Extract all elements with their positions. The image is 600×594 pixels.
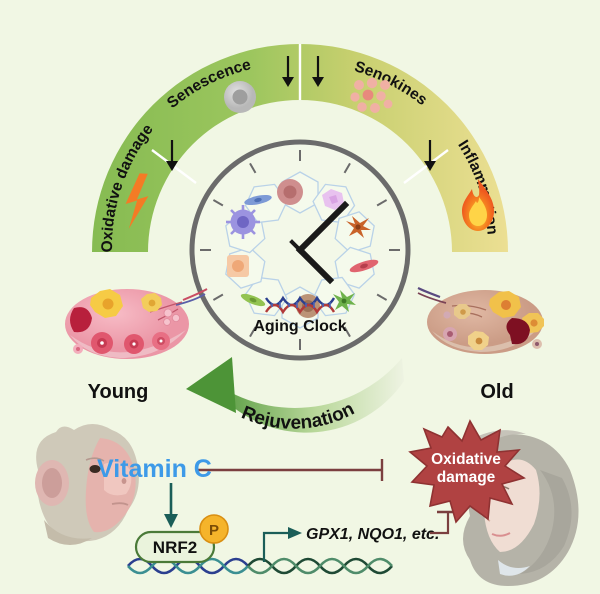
young-label: Young (88, 381, 149, 403)
nrf2-label: NRF2 (153, 538, 197, 557)
oxidative-damage-line2: damage (437, 469, 496, 486)
old-label: Old (480, 381, 513, 403)
target-genes-label: GPX1, NQO1, etc. (306, 526, 439, 543)
purple-spiky-cell (226, 205, 260, 239)
vitamin-c-label: Vitamin C (97, 455, 212, 483)
aging-clock: Aging Clock (192, 142, 408, 358)
clock-label: Aging Clock (253, 318, 346, 335)
figure-canvas: Oxidative damage Senescence Senokines In… (0, 0, 600, 594)
phospho-label: P (209, 522, 219, 539)
senescent-cell-icon (224, 81, 256, 113)
peach-square-cell (227, 255, 249, 277)
oxidative-damage-line1: Oxidative (431, 451, 501, 468)
round-red-cell (277, 179, 303, 205)
